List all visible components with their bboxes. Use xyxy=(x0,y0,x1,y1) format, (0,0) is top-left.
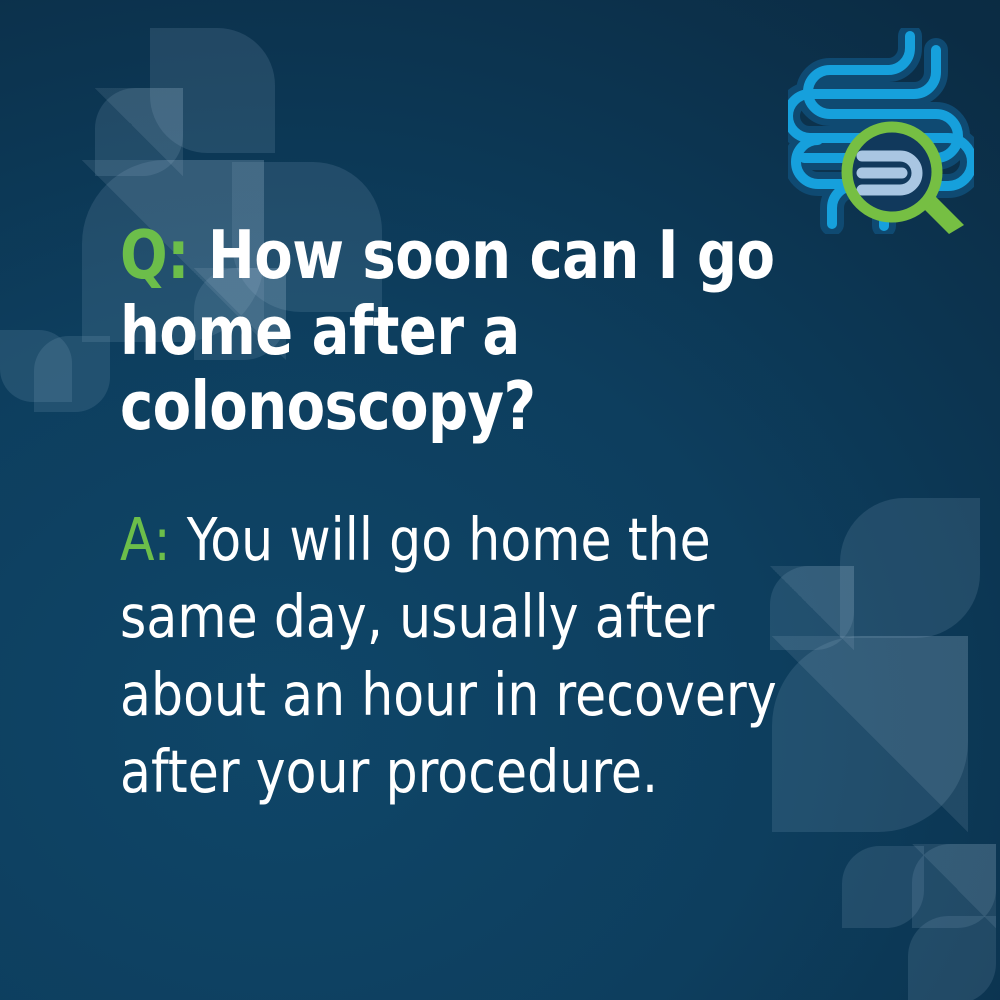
leaf-body xyxy=(150,28,275,153)
faq-card: Q: How soon can I go home after a colono… xyxy=(0,0,1000,1000)
leaf-highlight xyxy=(912,844,996,928)
leaf-shape xyxy=(34,336,110,412)
leaf-shape xyxy=(912,844,996,928)
leaf-shape xyxy=(842,846,924,928)
leaf-shape xyxy=(0,330,72,402)
answer-marker: A: xyxy=(120,505,171,574)
leaf-body xyxy=(842,846,924,928)
colonoscopy-logo xyxy=(788,28,974,234)
leaf-highlight xyxy=(95,88,183,176)
leaf-body xyxy=(95,88,183,176)
question-heading: Q: How soon can I go home after a colono… xyxy=(120,218,911,445)
question-marker: Q: xyxy=(120,216,189,294)
leaf-shape xyxy=(908,916,996,1000)
leaf-body xyxy=(0,330,72,402)
leaf-body xyxy=(908,916,996,1000)
leaf-shape xyxy=(95,88,183,176)
faq-copy: Q: How soon can I go home after a colono… xyxy=(120,218,970,810)
question-text: How soon can I go home after a colonosco… xyxy=(120,216,774,445)
leaf-body xyxy=(912,844,996,928)
answer-text: You will go home the same day, usually a… xyxy=(120,505,777,806)
leaf-shape xyxy=(150,28,275,153)
answer-paragraph: A: You will go home the same day, usuall… xyxy=(120,445,928,810)
leaf-body xyxy=(34,336,110,412)
